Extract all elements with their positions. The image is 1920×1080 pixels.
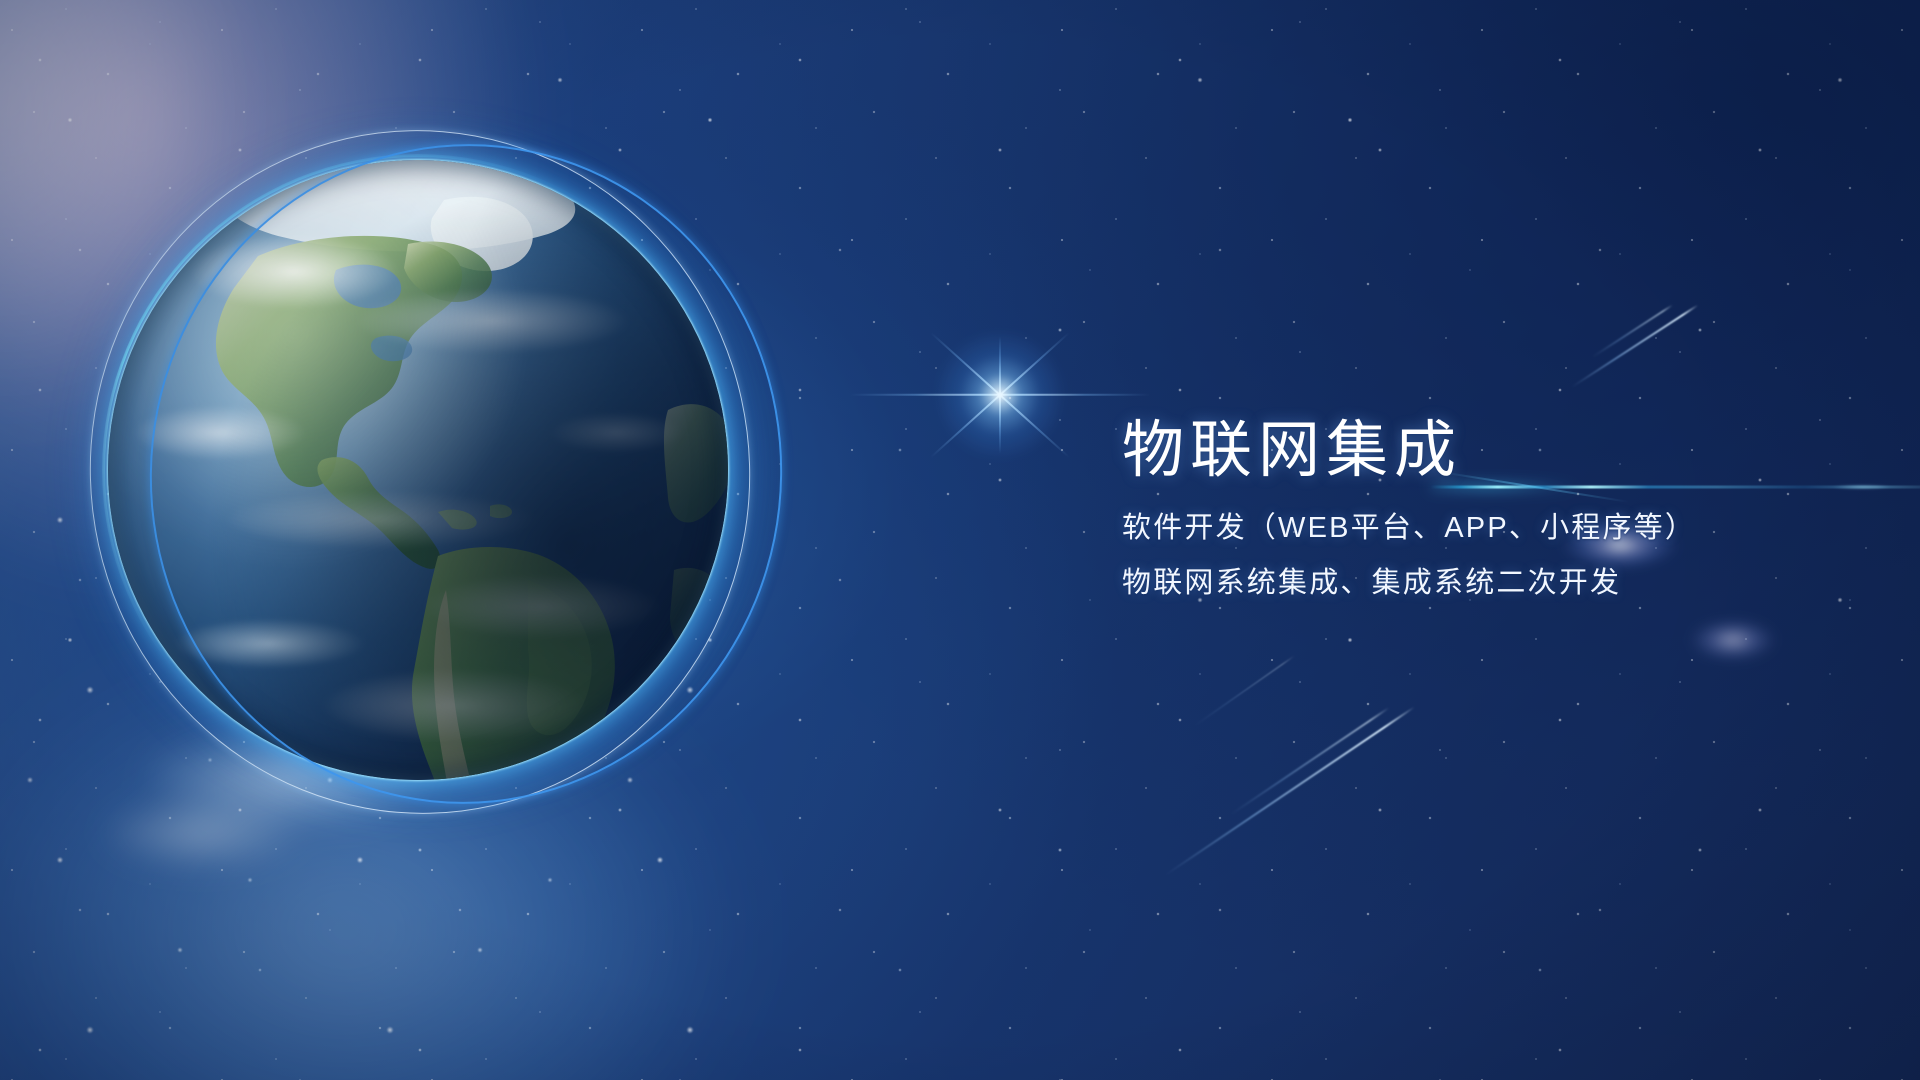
banner-subtitle: 软件开发（WEB平台、APP、小程序等） 物联网系统集成、集成系统二次开发	[1122, 505, 1862, 607]
page-title: 物联网集成	[1122, 418, 1862, 483]
globe-rim-shadow	[108, 160, 728, 780]
subtitle-line-1: 软件开发（WEB平台、APP、小程序等）	[1122, 505, 1862, 552]
hero-banner: 物联网集成 软件开发（WEB平台、APP、小程序等） 物联网系统集成、集成系统二…	[0, 0, 1920, 1080]
subtitle-line-2: 物联网系统集成、集成系统二次开发	[1122, 560, 1862, 607]
banner-copy: 物联网集成 软件开发（WEB平台、APP、小程序等） 物联网系统集成、集成系统二…	[1122, 418, 1862, 607]
earth-globe-group	[108, 160, 728, 780]
earth-globe-icon	[108, 160, 728, 780]
